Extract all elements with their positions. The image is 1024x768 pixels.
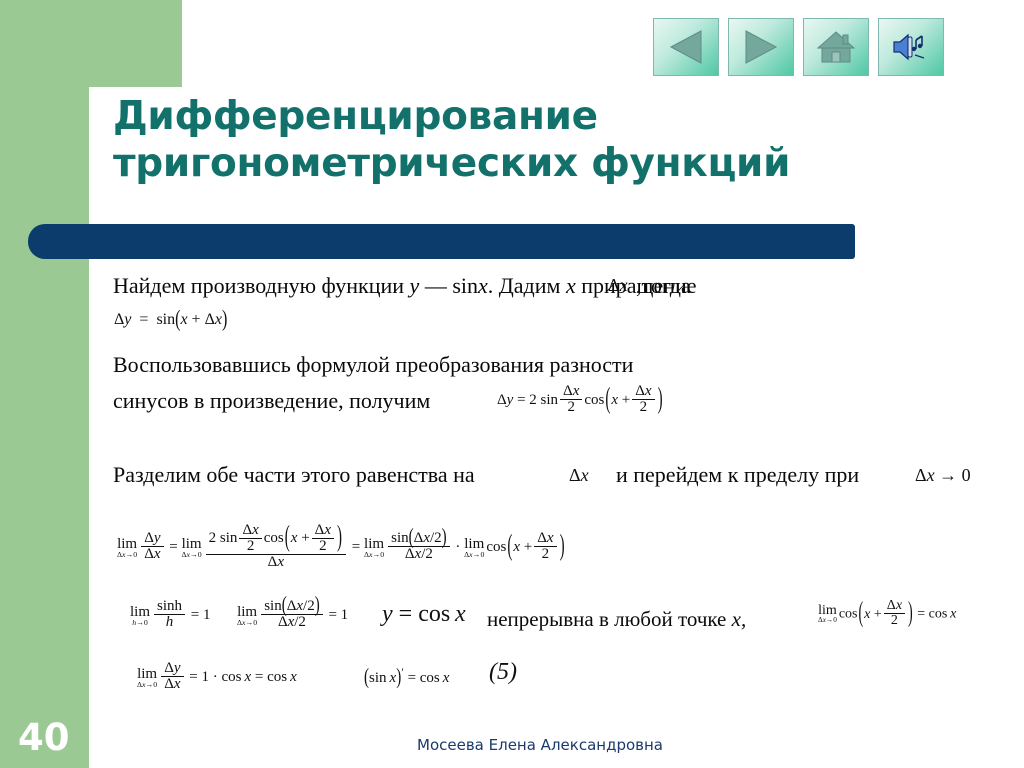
line1-text-a: Найдем производную функции <box>113 273 410 298</box>
speaker-icon <box>891 31 931 63</box>
triangle-right-icon <box>744 29 778 65</box>
line1-text-e: ,тогда <box>636 273 691 299</box>
paragraph-line-4-a: Разделим обе части этого равенства на <box>113 462 475 488</box>
footer-author: Мосеева Елена Александровна <box>260 736 820 754</box>
page-title-line1: Дифференцирование <box>113 93 903 140</box>
green-side-band <box>0 0 89 768</box>
slide-canvas: Дифференцирование тригонометрических фун… <box>0 0 1024 768</box>
page-title: Дифференцирование тригонометрических фун… <box>113 93 903 187</box>
sound-button[interactable] <box>878 18 944 76</box>
navigation-toolbar <box>653 18 944 76</box>
line4-limit-condition: Δx → 0 <box>915 466 971 484</box>
formula-main-limit-derivation: limΔx→0ΔyΔx = limΔx→02 sinΔx2cos(x +Δx2)… <box>117 524 566 571</box>
formula-y-equals-cos-x: y = cos x <box>382 602 466 626</box>
formula-delta-y-product: Δy = 2 sinΔx2cos(x +Δx2) <box>497 385 664 416</box>
line1-var-x2: x <box>566 273 576 298</box>
paragraph-line-5: непрерывна в любой точке x, <box>487 607 746 632</box>
line5-var-x: x, <box>732 607 747 631</box>
equation-number: (5) <box>489 660 517 684</box>
page-number: 40 <box>18 716 78 760</box>
home-icon <box>816 29 856 65</box>
home-button[interactable] <box>803 18 869 76</box>
triangle-left-icon <box>669 29 703 65</box>
formula-delta-y-sin: Δy = sin(x + Δx) <box>114 312 227 328</box>
line4-delta-x: Δx <box>569 466 589 484</box>
line5-text: непрерывна в любой точке <box>487 607 726 631</box>
paragraph-line-2: Воспользовавшись формулой преобразования… <box>113 352 633 378</box>
title-accent-bar <box>28 224 855 259</box>
page-title-line2: тригонометрических функций <box>113 140 903 187</box>
line1-text-b: — sin <box>419 273 478 298</box>
formula-limit-cos: limΔx→0cos(x +Δx2) = cos x <box>818 600 956 629</box>
line1-text-c: . Дадим <box>488 273 566 298</box>
paragraph-line-4-b: и перейдем к пределу при <box>616 462 859 488</box>
formula-derivative-sin: (sin x)′ = cos x <box>364 666 449 686</box>
line1-var-x1: x <box>478 273 488 298</box>
line1-delta-x: Δx <box>608 276 628 294</box>
line1-var-y: y <box>410 273 420 298</box>
formula-final-limit: limΔx→0ΔyΔx = 1 · cos x = cos x <box>137 662 297 693</box>
paragraph-line-3: синусов в произведение, получим <box>113 388 430 414</box>
next-slide-button[interactable] <box>728 18 794 76</box>
formula-limit-sinh-h: limh→0sinhh = 1 <box>130 600 211 631</box>
previous-slide-button[interactable] <box>653 18 719 76</box>
formula-limit-sin-half: limΔx→0sin(Δx/2)Δx/2 = 1 <box>237 600 348 631</box>
